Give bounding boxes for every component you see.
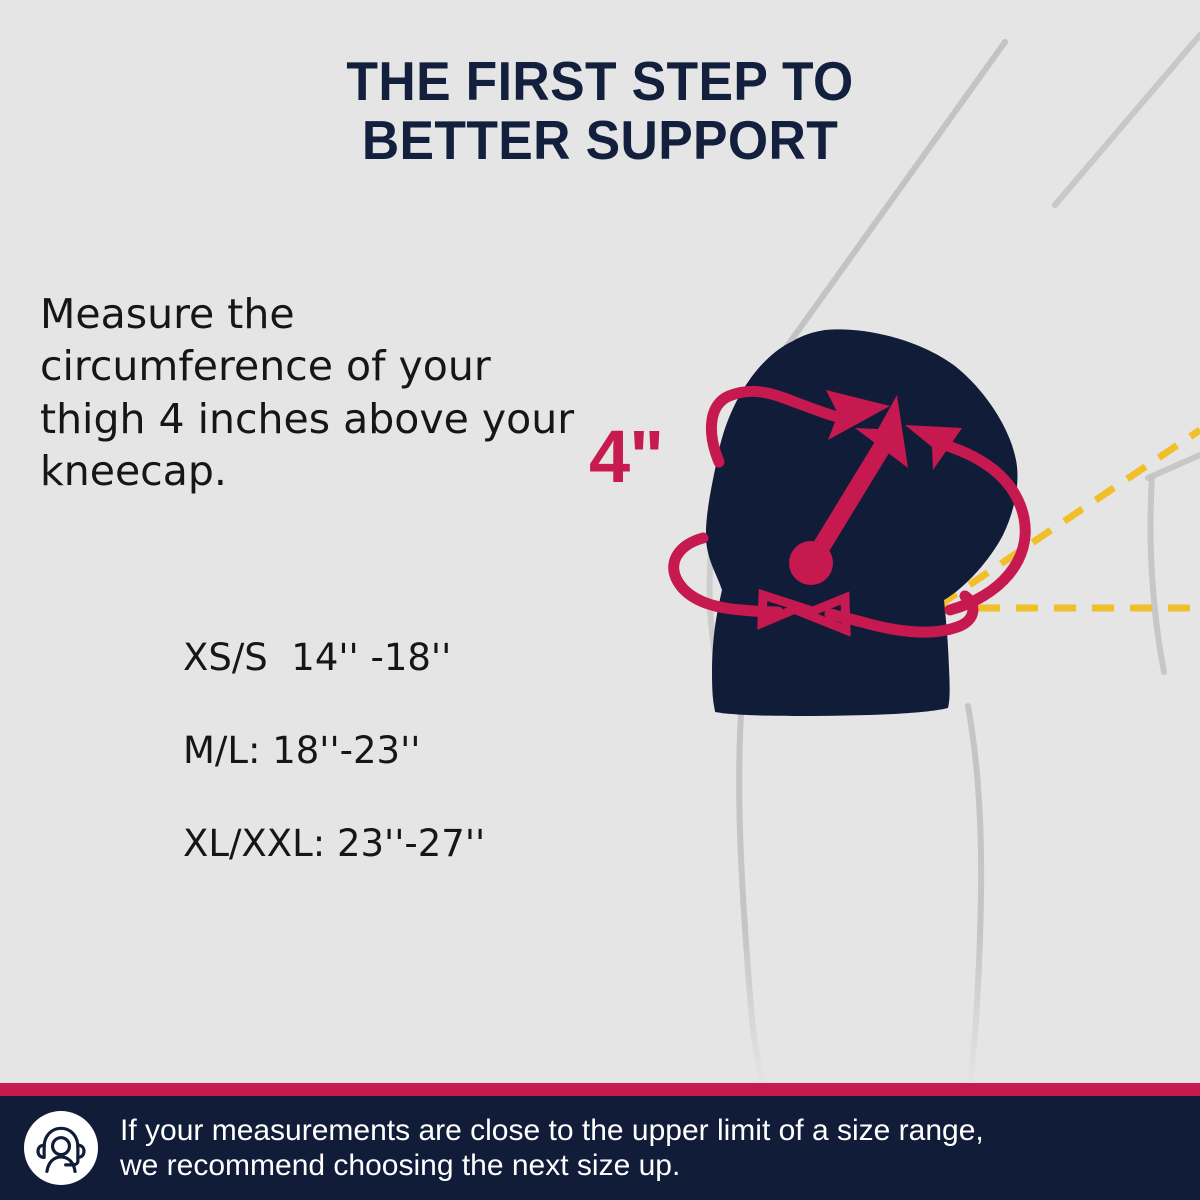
footer-accent-bar xyxy=(0,1083,1200,1096)
circumference-arrow-lower xyxy=(674,538,973,632)
title-line-2: BETTER SUPPORT xyxy=(36,111,1164,170)
angle-guide-diagonal xyxy=(938,430,1200,606)
footer-note-line-2: we recommend choosing the next size up. xyxy=(120,1148,984,1183)
knee-brace-shape xyxy=(706,329,1018,716)
measurement-callout-label: 4" xyxy=(589,420,663,494)
knee-measurement-illustration xyxy=(0,0,1200,1200)
circumference-arrow-upper xyxy=(711,390,1025,610)
support-agent-headset-icon xyxy=(24,1111,98,1185)
measure-anchor-dot xyxy=(789,541,833,585)
footer-banner: If your measurements are close to the up… xyxy=(0,1083,1200,1200)
title-line-1: THE FIRST STEP TO xyxy=(36,52,1164,111)
sizing-infographic: THE FIRST STEP TO BETTER SUPPORT Measure… xyxy=(0,0,1200,1200)
page-title: THE FIRST STEP TO BETTER SUPPORT xyxy=(0,52,1200,170)
leg-outline xyxy=(709,35,1200,1082)
size-chart-row-m-l: M/L: 18''-23'' xyxy=(183,729,485,772)
double-headed-measure-arrow xyxy=(789,395,908,585)
angle-guide-dashed-lines xyxy=(938,430,1200,608)
size-chart: XS/S 14'' -18'' M/L: 18''-23'' XL/XXL: 2… xyxy=(183,636,485,865)
footer-note: If your measurements are close to the up… xyxy=(120,1113,984,1183)
size-chart-row-xl-xxl: XL/XXL: 23''-27'' xyxy=(183,822,485,865)
size-chart-row-xs-s: XS/S 14'' -18'' xyxy=(183,636,485,679)
footer-note-line-1: If your measurements are close to the up… xyxy=(120,1113,984,1148)
instruction-text: Measure the circumference of your thigh … xyxy=(40,288,600,498)
